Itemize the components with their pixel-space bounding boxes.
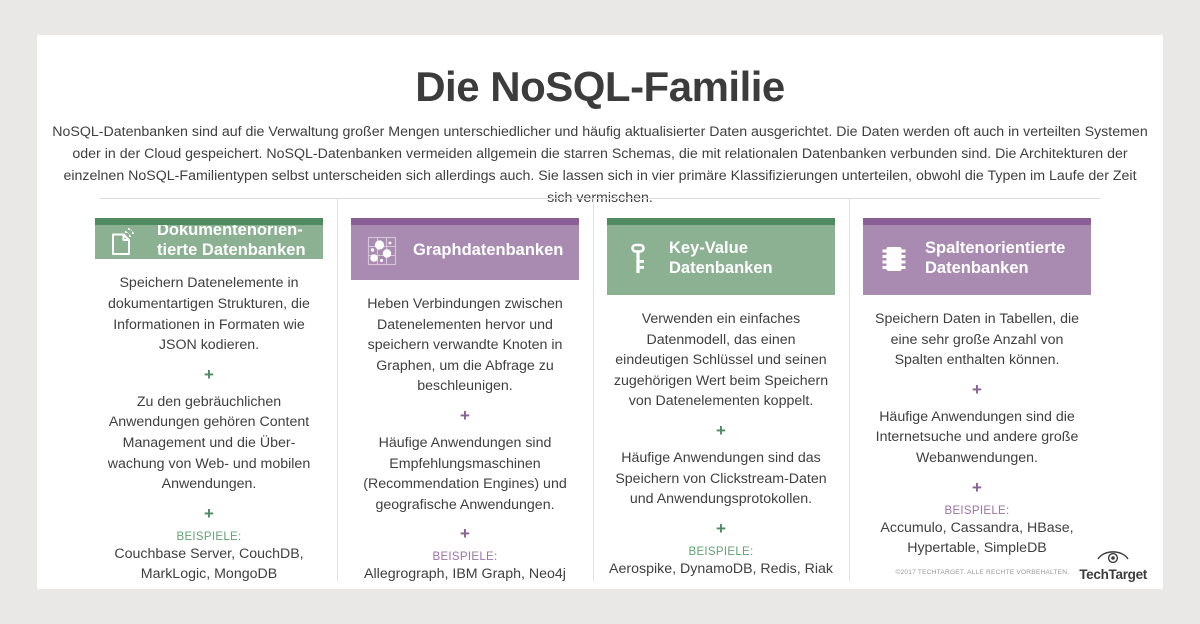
documents-icon bbox=[95, 218, 157, 259]
techtarget-wordmark: TechTarget bbox=[1079, 568, 1147, 582]
description-primary: Speichern Datenelemente in dokumentartig… bbox=[98, 273, 320, 355]
category-header-document[interactable]: Dokumentenorien-tierte Datenbanken bbox=[95, 218, 323, 259]
examples-label: BEISPIELE: bbox=[944, 505, 1009, 517]
category-columns: Dokumentenorien-tierte Datenbanken Speic… bbox=[81, 199, 1119, 585]
column-column-oriented-databases: SpaltenorientierteDatenbanken Speichern … bbox=[849, 199, 1105, 585]
column-key-value-databases: Key-ValueDatenbanken Verwenden ein einfa… bbox=[593, 199, 849, 585]
category-header-graph[interactable]: Graphdatenbanken bbox=[351, 218, 579, 280]
infographic-canvas: Die NoSQL-Familie NoSQL-Datenbanken sind… bbox=[0, 0, 1200, 624]
footer: ©2017 TECHTARGET. ALLE RECHTE VORBEHALTE… bbox=[895, 548, 1147, 582]
column-document-databases: Dokumentenorien-tierte Datenbanken Speic… bbox=[81, 199, 337, 585]
description-secondary: Häufige Anwendungen sind die Internetsuc… bbox=[866, 407, 1088, 469]
category-header-label: Dokumentenorien-tierte Datenbanken bbox=[157, 218, 310, 259]
graph-nodes-icon bbox=[351, 227, 413, 271]
intro-paragraph: NoSQL-Datenbanken sind auf die Verwaltun… bbox=[52, 121, 1148, 209]
copyright-notice: ©2017 TECHTARGET. ALLE RECHTE VORBEHALTE… bbox=[895, 569, 1069, 581]
infographic-sheet: Die NoSQL-Familie NoSQL-Datenbanken sind… bbox=[37, 35, 1163, 589]
separator-plus: + bbox=[460, 407, 470, 424]
separator-plus: + bbox=[204, 366, 214, 383]
page-title: Die NoSQL-Familie bbox=[37, 65, 1163, 109]
column-graph-databases: Graphdatenbanken Heben Verbindungen zwis… bbox=[337, 199, 593, 585]
examples-list: Couchbase Server, CouchDB, MarkLogic, Mo… bbox=[93, 544, 325, 585]
examples-list: Aerospike, DynamoDB, Redis, Riak bbox=[605, 559, 837, 580]
separator-plus: + bbox=[204, 505, 214, 522]
category-header-column-oriented[interactable]: SpaltenorientierteDatenbanken bbox=[863, 218, 1091, 295]
description-secondary: Häufige Anwendungen sind Empfehlungsmasc… bbox=[354, 433, 576, 515]
examples-label: BEISPIELE: bbox=[432, 551, 497, 563]
column-chip-icon bbox=[863, 235, 925, 279]
key-icon bbox=[607, 235, 669, 279]
separator-plus: + bbox=[972, 381, 982, 398]
category-header-label: SpaltenorientierteDatenbanken bbox=[925, 235, 1069, 279]
separator-plus: + bbox=[716, 520, 726, 537]
separator-plus: + bbox=[972, 479, 982, 496]
examples-label: BEISPIELE: bbox=[176, 531, 241, 543]
examples-list: Allegrograph, IBM Graph, Neo4j bbox=[349, 564, 581, 585]
eye-icon bbox=[1096, 548, 1130, 568]
description-primary: Heben Verbindungen zwischen Datenelement… bbox=[354, 294, 576, 397]
category-header-label: Key-ValueDatenbanken bbox=[669, 235, 777, 279]
description-secondary: Zu den gebräuchlichen Anwendungen gehöre… bbox=[98, 392, 320, 495]
description-primary: Verwenden ein einfaches Datenmodell, das… bbox=[610, 309, 832, 412]
techtarget-logo: TechTarget bbox=[1079, 548, 1147, 582]
category-header-label: Graphdatenbanken bbox=[413, 237, 567, 261]
description-primary: Speichern Daten in Tabellen, die eine se… bbox=[866, 309, 1088, 371]
separator-plus: + bbox=[716, 422, 726, 439]
description-secondary: Häufige Anwendungen sind das Speichern v… bbox=[610, 448, 832, 510]
separator-plus: + bbox=[460, 525, 470, 542]
category-header-key-value[interactable]: Key-ValueDatenbanken bbox=[607, 218, 835, 295]
examples-label: BEISPIELE: bbox=[688, 546, 753, 558]
